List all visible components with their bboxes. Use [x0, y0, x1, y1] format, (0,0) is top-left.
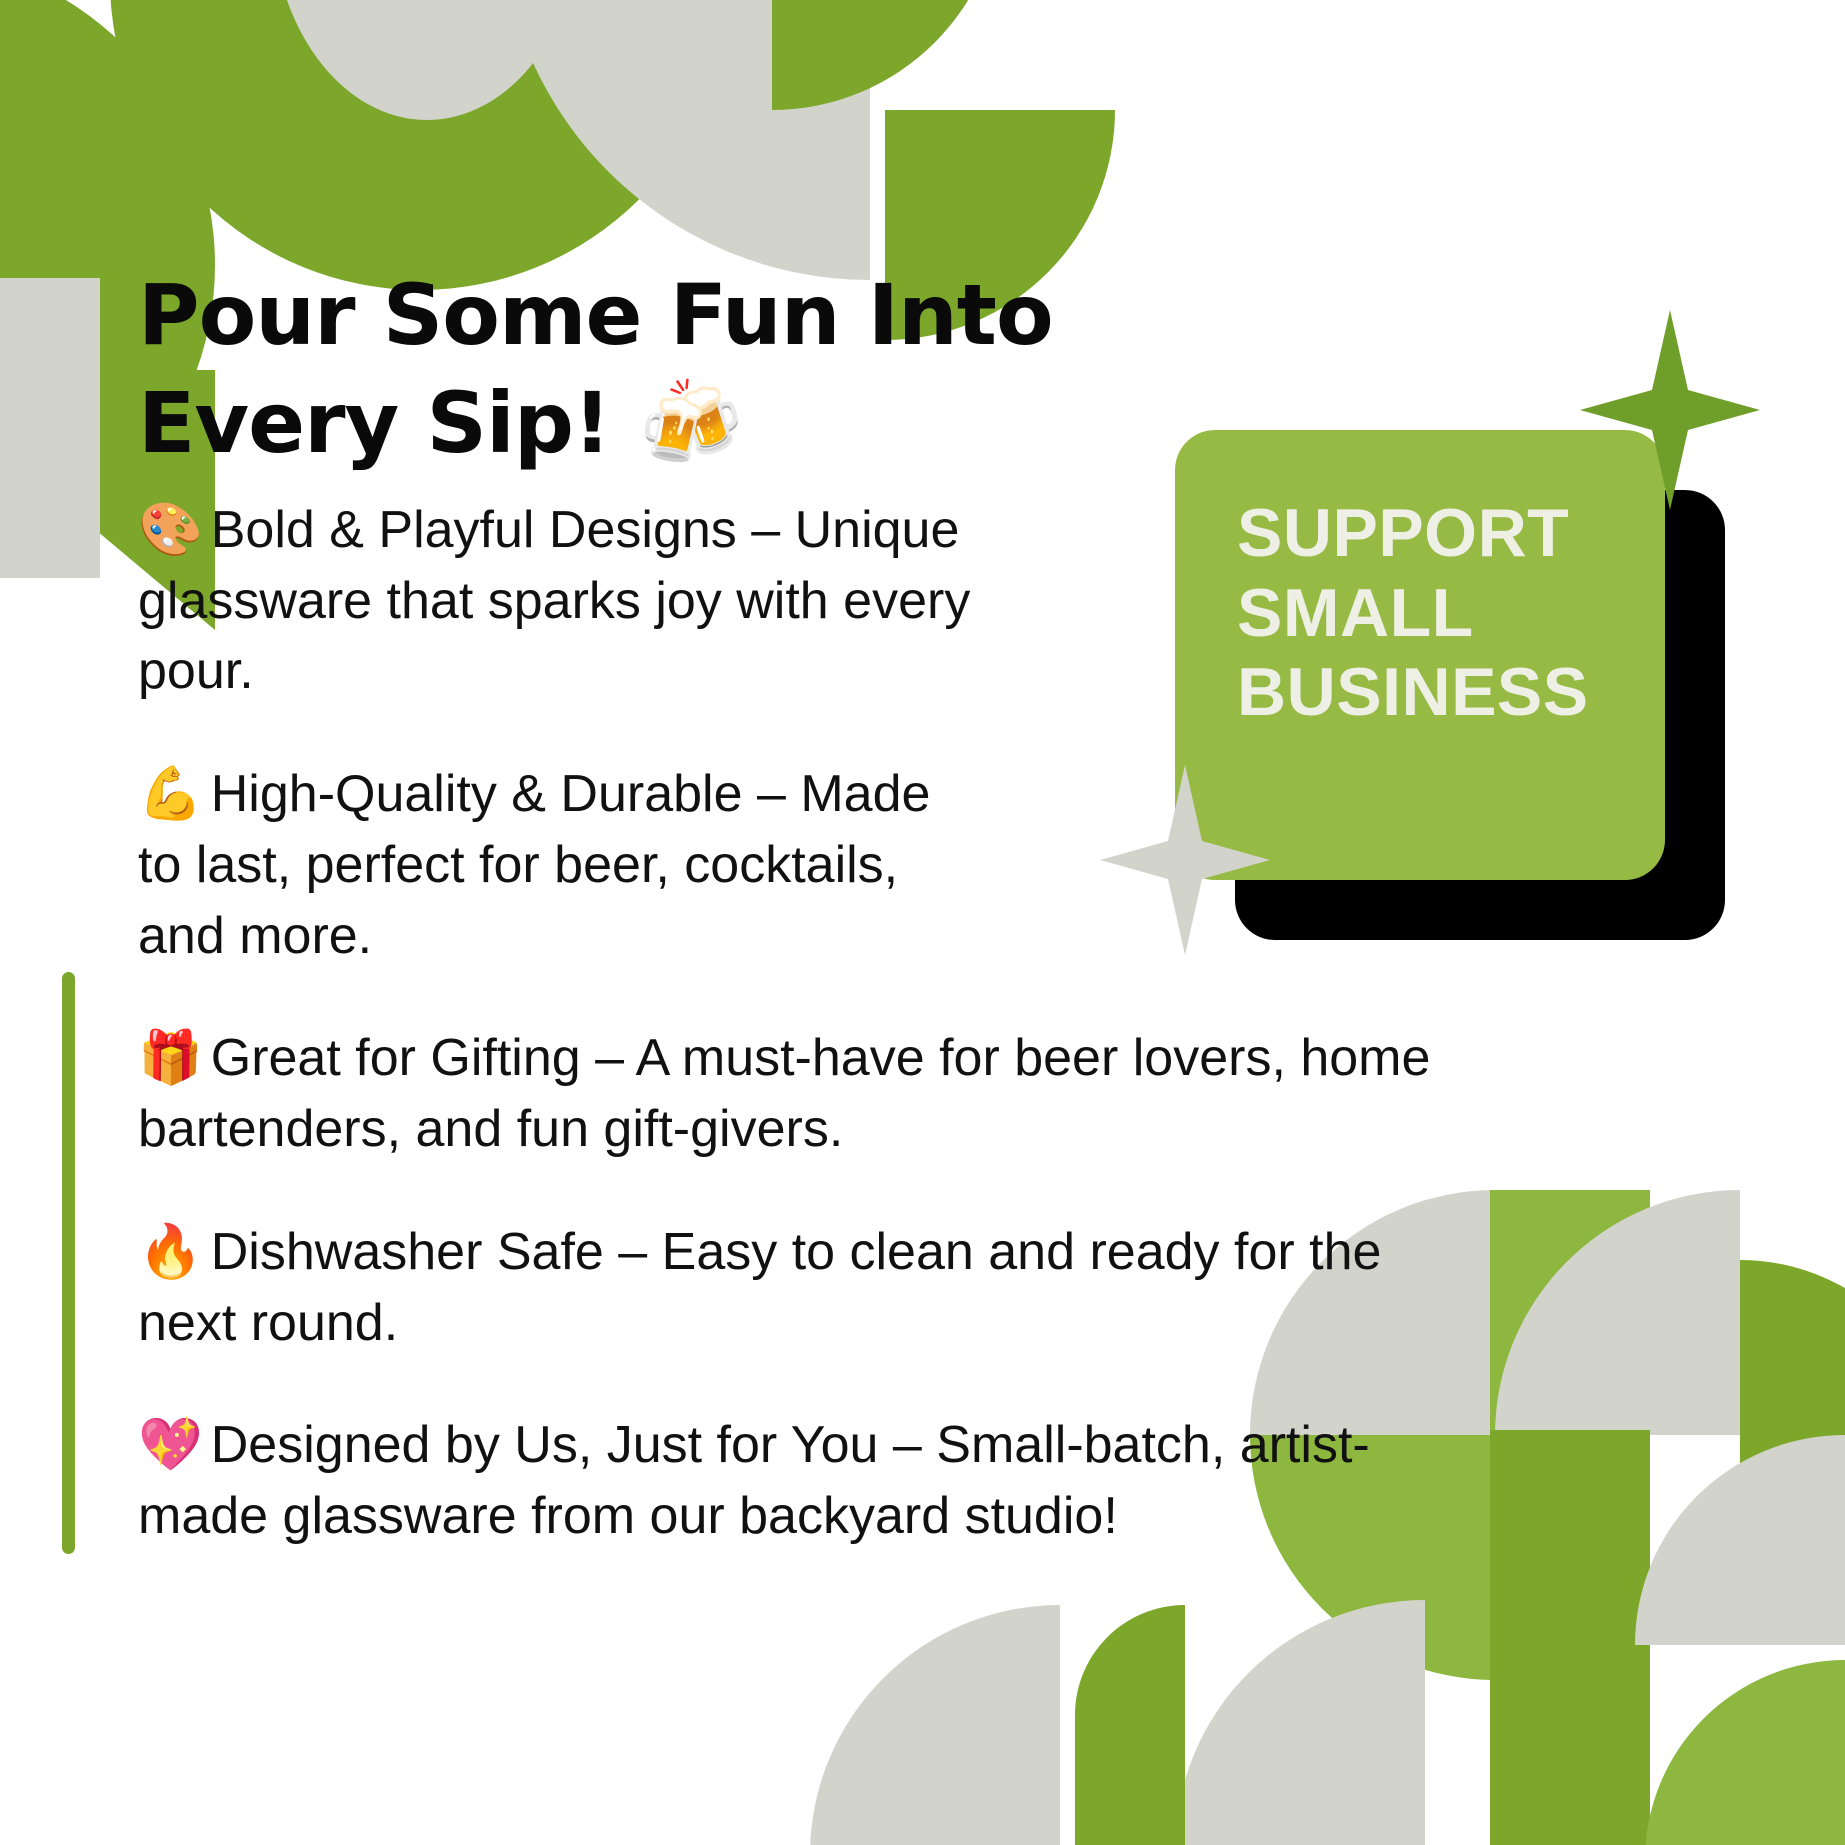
- flexed-biceps-emoji: 💪: [138, 764, 203, 824]
- list-item-text: Dishwasher Safe – Easy to clean and read…: [138, 1223, 1381, 1352]
- content-block: Pour Some Fun Into Every Sip! 🍻 🎨Bold & …: [138, 262, 1468, 1604]
- list-item: 🔥Dishwasher Safe – Easy to clean and rea…: [138, 1217, 1468, 1358]
- headline-line-2: Every Sip!: [138, 374, 610, 472]
- wrapped-gift-emoji: 🎁: [138, 1028, 203, 1088]
- list-item-text: Bold & Playful Designs – Unique glasswar…: [138, 501, 970, 700]
- feature-list: 🎨Bold & Playful Designs – Unique glasswa…: [138, 495, 1468, 1552]
- artist-palette-emoji: 🎨: [138, 500, 203, 560]
- fire-emoji: 🔥: [138, 1222, 203, 1282]
- decor-green-tall-bar-bottom-right: [1490, 1430, 1650, 1845]
- page-title: Pour Some Fun Into Every Sip! 🍻: [138, 262, 1078, 477]
- sparkling-heart-emoji: 💖: [138, 1415, 203, 1475]
- list-item: 💖Designed by Us, Just for You – Small-ba…: [138, 1410, 1468, 1551]
- decor-grey-square-top-left: [0, 278, 100, 578]
- list-item: 🎁Great for Gifting – A must-have for bee…: [138, 1023, 1468, 1164]
- green-accent-line: [62, 972, 75, 1554]
- decor-green-quarter-bottom-corner: [1645, 1660, 1845, 1845]
- beer-mugs-emoji: 🍻: [639, 374, 743, 472]
- list-item: 💪High-Quality & Durable – Made to last, …: [138, 759, 978, 971]
- headline-line-1: Pour Some Fun Into: [138, 266, 1053, 364]
- decor-grey-quarter-bottom-center-right: [1175, 1600, 1425, 1845]
- list-item-text: Designed by Us, Just for You – Small-bat…: [138, 1416, 1370, 1545]
- list-item-text: Great for Gifting – A must-have for beer…: [138, 1029, 1430, 1158]
- decor-green-quarter-top-right: [772, 0, 1002, 110]
- decor-green-quarter-bottom-center: [1075, 1605, 1185, 1845]
- promo-graphic-canvas: SUPPORT SMALL BUSINESS Pour Some Fun Int…: [0, 0, 1845, 1845]
- list-item: 🎨Bold & Playful Designs – Unique glasswa…: [138, 495, 978, 707]
- decor-grey-quarter-bottom-center-left: [810, 1605, 1060, 1845]
- list-item-text: High-Quality & Durable – Made to last, p…: [138, 765, 930, 964]
